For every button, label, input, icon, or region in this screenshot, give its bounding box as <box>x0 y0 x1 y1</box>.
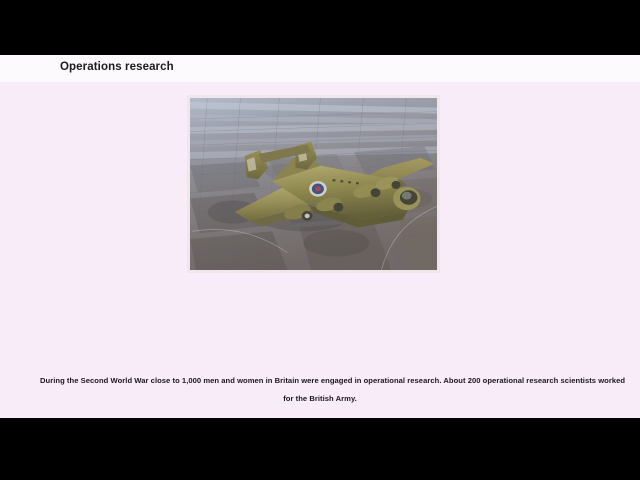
slide-viewport: Operations research <box>0 0 640 480</box>
page-title: Operations research <box>60 61 174 73</box>
aircraft-photo-illustration <box>190 98 437 270</box>
slide-header-bar: Operations research <box>0 55 640 82</box>
caption-line-1: During the Second World War close to 1,0… <box>40 372 600 390</box>
wwii-bomber-aircraft-photograph <box>190 98 437 270</box>
caption-line-2: for the British Army. <box>40 390 600 408</box>
caption: During the Second World War close to 1,0… <box>40 372 600 408</box>
image-frame <box>187 95 440 273</box>
letterbox-top-bar <box>0 0 640 55</box>
slide-content-area: During the Second World War close to 1,0… <box>0 82 640 418</box>
letterbox-bottom-bar <box>0 418 640 480</box>
